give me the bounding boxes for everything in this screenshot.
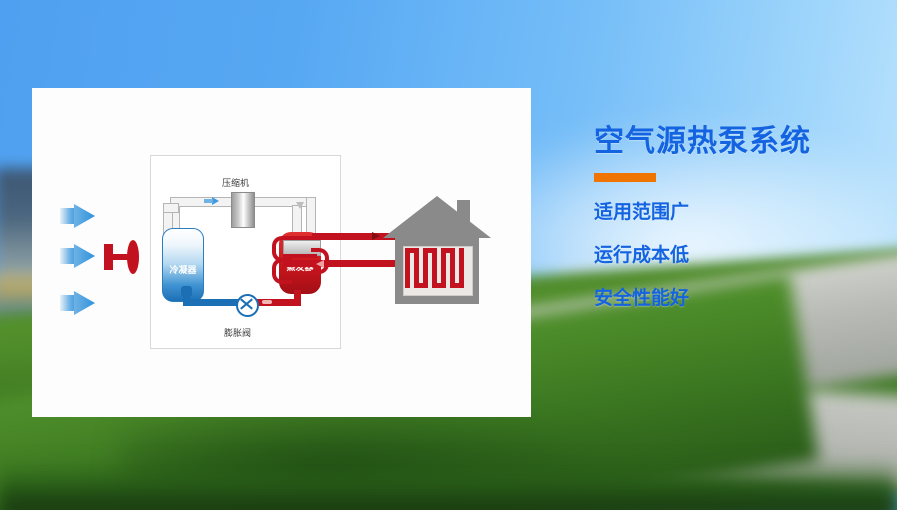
fan-blade bbox=[127, 240, 139, 274]
arrow-tail bbox=[60, 248, 76, 264]
arrow-tail bbox=[60, 208, 76, 224]
roof bbox=[383, 196, 491, 238]
flow-arrow-icon-right bbox=[296, 202, 304, 209]
compressor-label: 压缩机 bbox=[222, 176, 249, 189]
vapor-line-to-condenser bbox=[190, 299, 240, 306]
coil-seg bbox=[423, 248, 428, 288]
return-flow-arrow-icon bbox=[316, 260, 324, 268]
evaporator-coil-run-2 bbox=[283, 254, 317, 258]
expansion-valve-label: 膨胀阀 bbox=[224, 326, 251, 339]
gas-pipe-left-elbow bbox=[163, 203, 179, 213]
flow-arrow-tail-top bbox=[204, 199, 213, 203]
expansion-valve-icon bbox=[236, 294, 259, 317]
liquid-line-highlight bbox=[262, 300, 272, 304]
slide-canvas: 压缩机 冷凝器 蒸发器 膨胀阀 bbox=[0, 0, 897, 510]
vapor-line-elbow bbox=[181, 286, 192, 297]
slide-title: 空气源热泵系统 bbox=[594, 122, 894, 162]
air-flow-arrow-3 bbox=[60, 291, 94, 315]
bullet-item: 适用范围广 bbox=[594, 202, 894, 224]
coil-seg bbox=[432, 248, 437, 288]
floor-heating-coil bbox=[405, 248, 469, 292]
arrow-head-icon bbox=[74, 291, 95, 315]
gas-pipe-top-left bbox=[170, 197, 236, 207]
flow-arrow-icon-top bbox=[212, 197, 219, 205]
liquid-line-to-valve bbox=[253, 299, 301, 306]
title-underline-rule bbox=[594, 173, 656, 182]
bullet-list: 适用范围广 运行成本低 安全性能好 bbox=[594, 202, 894, 310]
coil-seg bbox=[441, 248, 446, 288]
bottom-vignette bbox=[0, 478, 897, 510]
air-flow-arrow-2 bbox=[60, 244, 94, 268]
hot-flow-arrow-icon bbox=[372, 232, 380, 240]
fan-icon bbox=[104, 240, 140, 274]
compressor-unit bbox=[231, 192, 255, 228]
house-illustration bbox=[383, 196, 491, 304]
coil-seg bbox=[405, 248, 410, 288]
coil-seg bbox=[459, 248, 464, 288]
arrow-tail bbox=[60, 295, 76, 311]
coil-seg bbox=[450, 248, 455, 288]
text-panel: 空气源热泵系统 适用范围广 运行成本低 安全性能好 bbox=[594, 122, 894, 331]
air-flow-arrow-1 bbox=[60, 204, 94, 228]
arrow-head-icon bbox=[74, 204, 95, 228]
condenser-label: 冷凝器 bbox=[163, 263, 203, 276]
bullet-item: 安全性能好 bbox=[594, 288, 894, 310]
bullet-item: 运行成本低 bbox=[594, 245, 894, 267]
arrow-head-icon bbox=[74, 244, 95, 268]
coil-seg bbox=[414, 248, 419, 288]
